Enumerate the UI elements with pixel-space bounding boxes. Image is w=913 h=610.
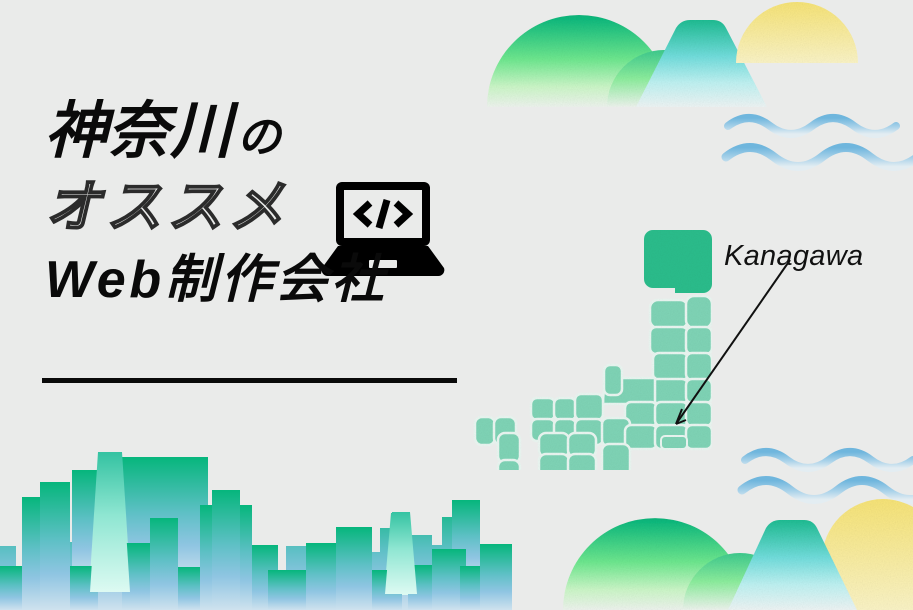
banner-canvas: Kanagawa 神奈川の オススメ Web制作会社 [0,0,913,610]
hill-cluster-top-right [487,15,721,107]
mount-fuji-bottom-right [728,520,857,610]
map-region-kanagawa [661,436,687,449]
sun-top-right [736,2,858,63]
headline-line-1: 神奈川の [45,100,475,164]
hill-cluster-bottom-right [563,518,797,610]
headline-divider-rule [42,378,457,383]
waves-top-right [726,118,913,167]
map-region-tohoku [650,296,712,380]
map-region-hokkaido [644,230,712,293]
city-skyline-bottom-left [0,452,913,610]
headline-line-3: Web制作会社 [45,253,475,308]
mount-fuji-top-right [636,20,767,107]
city-skyline-buildings [0,453,512,610]
headline-line-1-main: 神奈川 [45,97,233,166]
waves-bottom-right [742,452,913,500]
japan-map [465,220,725,470]
headline-block: 神奈川の オススメ Web制作会社 [45,100,475,308]
map-label-kanagawa: Kanagawa [724,240,863,273]
headline-line-2: オススメ [45,178,475,237]
sun-bottom-right [822,499,913,610]
headline-line-1-suffix: の [237,113,282,162]
